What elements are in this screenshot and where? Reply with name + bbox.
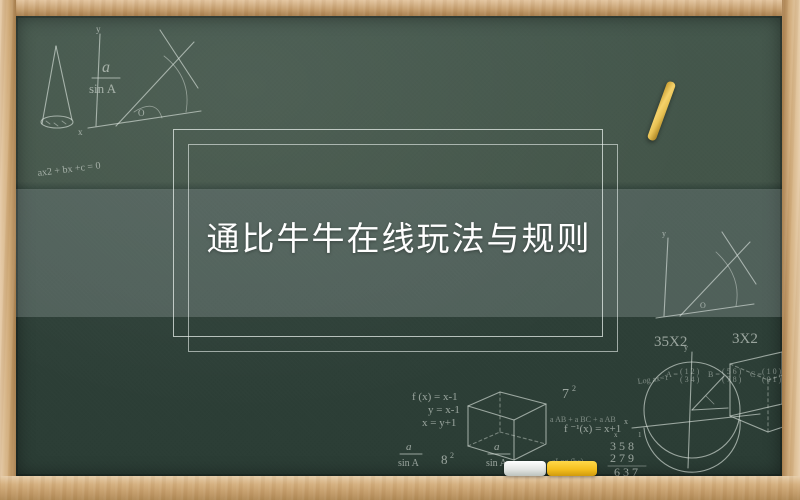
- svg-text:2: 2: [450, 451, 454, 460]
- wood-frame-top: [0, 0, 800, 16]
- svg-text:A =: A =: [666, 370, 678, 379]
- chalk-cone-diagram: [41, 46, 73, 128]
- chalk-circle-pie-diagram: y x: [624, 343, 760, 472]
- svg-text:sin A: sin A: [89, 81, 117, 96]
- wood-frame-bottom-ledge: [0, 476, 800, 500]
- chalk-cube-right: [730, 352, 782, 432]
- chalk-function-equations: f (x) = x-1 y = x-1 x = y+1: [412, 391, 460, 429]
- svg-text:sin A: sin A: [398, 458, 420, 469]
- chalk-inverse-function: f ⁻¹(x) = x+1: [564, 423, 621, 435]
- svg-text:y: y: [684, 343, 688, 352]
- chalk-log-label: Log ax=1: [637, 373, 669, 386]
- svg-text:x: x: [78, 127, 83, 137]
- svg-text:a: a: [494, 441, 500, 453]
- svg-text:x: x: [614, 431, 618, 439]
- chalk-eight-squared: 8 2: [441, 451, 454, 467]
- svg-text:O: O: [138, 108, 145, 118]
- svg-text:O: O: [700, 301, 706, 310]
- svg-text:y: y: [96, 24, 101, 34]
- svg-text:7: 7: [562, 387, 569, 402]
- svg-text:( 3 4 ): ( 3 4 ): [680, 375, 700, 384]
- chalk-expr-35x2: 35X2: [654, 334, 687, 350]
- page-title: 通比牛牛在线玩法与规则: [207, 221, 592, 257]
- page-title-container: 通比牛牛在线玩法与规则: [16, 221, 782, 257]
- svg-text:f (x) = x-1: f (x) = x-1: [412, 391, 458, 403]
- svg-text:a: a: [102, 59, 110, 76]
- chalk-addition-sum: x 1 3 5 8 2 7 9 6 3 7: [608, 431, 646, 476]
- wood-frame-right: [782, 0, 800, 500]
- chalk-quadratic-equation: ax2 + bx +c = 0: [37, 160, 101, 179]
- white-chalk-icon: [504, 461, 546, 476]
- svg-text:( 0 1 ): ( 0 1 ): [762, 375, 782, 384]
- svg-text:x = y+1: x = y+1: [422, 417, 456, 429]
- yellow-chalk-ledge-icon: [547, 461, 597, 476]
- svg-text:8: 8: [441, 452, 448, 467]
- svg-text:C =: C =: [750, 370, 762, 379]
- chalk-expr-3x2: 3X2: [732, 331, 758, 347]
- svg-text:2: 2: [572, 384, 576, 393]
- svg-text:x: x: [624, 417, 628, 426]
- chalk-seven-squared: 7 2: [562, 384, 576, 402]
- wood-frame-left: [0, 0, 16, 500]
- svg-text:y = x-1: y = x-1: [428, 404, 460, 416]
- svg-text:6 3 7: 6 3 7: [614, 465, 638, 476]
- svg-text:B =: B =: [708, 370, 720, 379]
- chalk-formula-sine-top: a sin A: [89, 59, 120, 96]
- screenshot-root: a sin A ax2 + bx +c = 0 y x O: [0, 0, 800, 500]
- chalk-cube-center: [468, 392, 546, 460]
- chalk-sine-bottom-left: a sin A: [398, 441, 422, 469]
- svg-text:1: 1: [638, 431, 642, 439]
- svg-text:a: a: [406, 441, 412, 453]
- svg-text:2 7 9: 2 7 9: [610, 451, 634, 465]
